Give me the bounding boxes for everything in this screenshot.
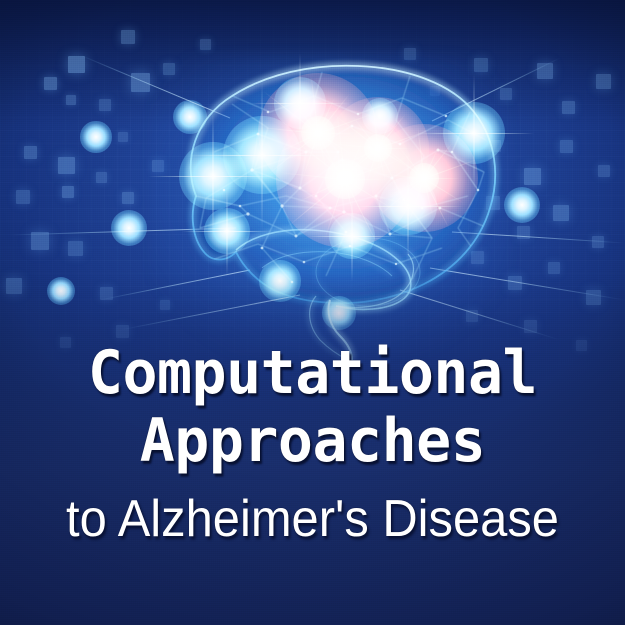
poster-canvas: Computational Approaches to Alzheimer's … (0, 0, 625, 625)
title-line-2: Approaches (9, 411, 615, 471)
subtitle-line: to Alzheimer's Disease (19, 493, 607, 545)
title-block: Computational Approaches to Alzheimer's … (0, 335, 625, 625)
title-line-1: Computational (9, 343, 615, 403)
